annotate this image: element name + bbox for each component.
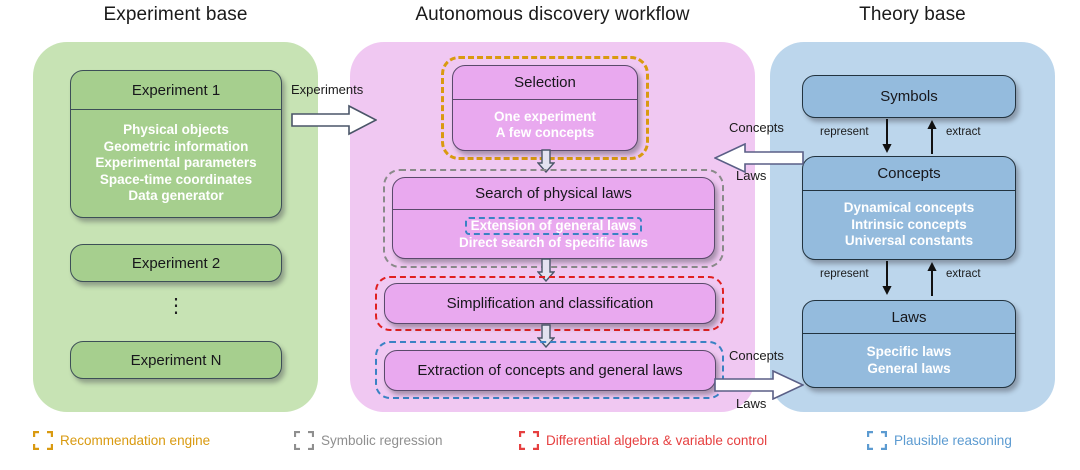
arrow-concepts-to-symbols-extract [925,119,939,154]
node-concepts-item-0: Dynamical concepts [844,200,975,216]
node-laws-item-0: Specific laws [867,344,952,360]
arrow-laws-to-concepts-extract [925,261,939,296]
node-selection[interactable]: Selection One experiment A few concepts [452,65,638,151]
theory-to-workflow-label-top: Concepts [729,120,784,135]
flow-arrow-selection-to-search [537,149,555,173]
theory-to-workflow-label-bottom: Laws [736,168,766,183]
node-symbols[interactable]: Symbols [802,75,1016,118]
legend-label-recommendation-engine: Recommendation engine [60,433,210,448]
node-laws[interactable]: Laws Specific laws General laws [802,300,1016,388]
arrow-concepts-to-laws-represent [880,261,894,296]
column-title-autonomous-discovery-workflow: Autonomous discovery workflow [350,4,755,26]
node-concepts-item-1: Intrinsic concepts [851,217,967,233]
legend-label-plausible-reasoning: Plausible reasoning [894,433,1012,448]
node-selection-body: One experiment A few concepts [453,100,637,150]
legend-item-recommendation-engine[interactable]: Recommendation engine [33,431,210,450]
edge-label-extract-symbols: extract [946,126,981,138]
dashed-bracket-icon [33,431,53,450]
node-selection-item-0: One experiment [494,109,596,125]
node-search-item-0-wrapper: Extension of general laws [465,217,643,235]
node-experiment-1-item-0: Physical objects [123,122,229,138]
arrow-symbols-to-concepts-represent [880,119,894,154]
node-concepts-title: Concepts [803,157,1015,191]
node-search-of-physical-laws[interactable]: Search of physical laws Extension of gen… [392,177,715,259]
node-concepts-body: Dynamical concepts Intrinsic concepts Un… [803,191,1015,259]
node-concepts[interactable]: Concepts Dynamical concepts Intrinsic co… [802,156,1016,260]
node-search-item-0: Extension of general laws [471,218,637,233]
node-selection-title: Selection [453,66,637,100]
experiments-arrow-label: Experiments [291,82,363,97]
node-laws-title: Laws [803,301,1015,334]
node-extraction-of-concepts[interactable]: Extraction of concepts and general laws [384,350,716,391]
node-symbols-title: Symbols [803,76,1015,117]
node-search-of-physical-laws-body: Extension of general laws Direct search … [393,210,714,258]
edge-label-extract-laws: extract [946,268,981,280]
node-experiment-n-title: Experiment N [71,342,281,378]
diagram-canvas: Experiment base Autonomous discovery wor… [0,0,1080,470]
node-simplification-and-classification[interactable]: Simplification and classification [384,283,716,324]
node-experiment-2-title: Experiment 2 [71,245,281,281]
node-laws-item-1: General laws [867,361,950,377]
legend-item-symbolic-regression[interactable]: Symbolic regression [294,431,443,450]
node-experiment-1-body: Physical objects Geometric information E… [71,110,281,217]
column-title-experiment-base: Experiment base [33,4,318,26]
dashed-bracket-icon [294,431,314,450]
experiment-list-ellipsis: ⋮ [70,296,282,316]
node-experiment-1[interactable]: Experiment 1 Physical objects Geometric … [70,70,282,218]
node-selection-item-1: A few concepts [496,125,595,141]
legend-item-differential-algebra[interactable]: Differential algebra & variable control [519,431,767,450]
node-experiment-1-title: Experiment 1 [71,71,281,110]
legend-label-differential-algebra: Differential algebra & variable control [546,433,767,448]
node-experiment-1-item-1: Geometric information [104,139,249,155]
edge-label-represent-symbols: represent [820,126,869,138]
node-extraction-of-concepts-title: Extraction of concepts and general laws [385,351,715,390]
flow-arrow-search-to-simplification [537,258,555,282]
node-laws-body: Specific laws General laws [803,334,1015,387]
node-search-item-1: Direct search of specific laws [459,235,648,251]
node-experiment-2[interactable]: Experiment 2 [70,244,282,282]
node-experiment-n[interactable]: Experiment N [70,341,282,379]
workflow-to-theory-label-bottom: Laws [736,396,766,411]
node-experiment-1-item-3: Space-time coordinates [100,172,252,188]
node-search-of-physical-laws-title: Search of physical laws [393,178,714,210]
legend-item-plausible-reasoning[interactable]: Plausible reasoning [867,431,1012,450]
node-experiment-1-item-4: Data generator [128,188,223,204]
node-experiment-1-item-2: Experimental parameters [95,155,256,171]
node-simplification-and-classification-title: Simplification and classification [385,284,715,323]
node-concepts-item-2: Universal constants [845,233,973,249]
legend-label-symbolic-regression: Symbolic regression [321,433,443,448]
dashed-bracket-icon [867,431,887,450]
experiments-block-arrow [291,104,377,136]
dashed-bracket-icon [519,431,539,450]
workflow-to-theory-label-top: Concepts [729,348,784,363]
flow-arrow-simplification-to-extraction [537,324,555,348]
column-title-theory-base: Theory base [770,4,1055,26]
edge-label-represent-laws: represent [820,268,869,280]
